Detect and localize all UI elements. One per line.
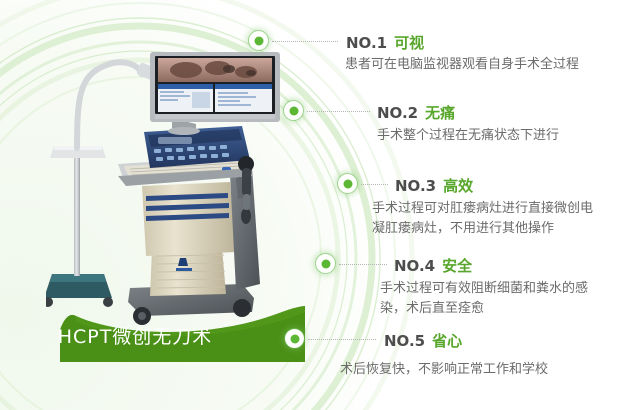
item-keyword-1: 可视 bbox=[394, 34, 424, 52]
item-keyword-3: 高效 bbox=[443, 177, 473, 195]
product-photo bbox=[46, 36, 284, 336]
bullet-dot-5[interactable] bbox=[285, 329, 304, 348]
leader-line-2 bbox=[307, 111, 370, 113]
banner-label: HCPT微创无刀术 bbox=[0, 322, 270, 349]
item-desc-3-line-1: 手术过程可对肛瘘病灶进行直接微创电 bbox=[372, 199, 593, 219]
item-no-3: NO.3 bbox=[395, 177, 436, 195]
item-desc-4-line-2: 染，术后直至痊愈 bbox=[380, 299, 588, 319]
item-keyword-4: 安全 bbox=[442, 257, 472, 275]
bullet-dot-1[interactable] bbox=[249, 31, 268, 50]
leader-line-1 bbox=[272, 41, 338, 43]
item-desc-1: 患者可在电脑监视器观看自身手术全过程 bbox=[345, 55, 579, 75]
item-desc-3-line-2: 凝肛瘘病灶，不用进行其他操作 bbox=[372, 219, 593, 239]
item-title-2: NO.2无痛 bbox=[377, 102, 455, 123]
leader-line-3 bbox=[361, 184, 388, 186]
item-desc-1-line-1: 患者可在电脑监视器观看自身手术全过程 bbox=[345, 55, 579, 75]
leader-line-5 bbox=[308, 339, 376, 341]
item-keyword-2: 无痛 bbox=[425, 104, 455, 122]
item-desc-3: 手术过程可对肛瘘病灶进行直接微创电 凝肛瘘病灶，不用进行其他操作 bbox=[372, 199, 593, 239]
item-no-4: NO.4 bbox=[394, 257, 435, 275]
item-no-1: NO.1 bbox=[346, 34, 387, 52]
infographic-root: HCPT微创无刀术 NO.1可视 患者可在电脑监视器观看自身手术全过程 NO.2… bbox=[0, 0, 617, 410]
item-no-2: NO.2 bbox=[377, 104, 418, 122]
leader-line-4 bbox=[339, 264, 387, 266]
item-title-3: NO.3高效 bbox=[395, 175, 473, 196]
bullet-dot-2[interactable] bbox=[284, 101, 303, 120]
bullet-dot-3[interactable] bbox=[338, 174, 357, 193]
item-desc-2: 手术整个过程在无痛状态下进行 bbox=[377, 126, 559, 146]
item-desc-4: 手术过程可有效阻断细菌和粪水的感 染，术后直至痊愈 bbox=[380, 279, 588, 319]
item-desc-5: 术后恢复快，不影响正常工作和学校 bbox=[340, 360, 548, 380]
treatment-cart bbox=[118, 52, 280, 325]
item-keyword-5: 省心 bbox=[432, 332, 462, 350]
item-title-5: NO.5省心 bbox=[384, 330, 462, 351]
item-desc-2-line-1: 手术整个过程在无痛状态下进行 bbox=[377, 126, 559, 146]
item-no-5: NO.5 bbox=[384, 332, 425, 350]
item-desc-5-line-1: 术后恢复快，不影响正常工作和学校 bbox=[340, 360, 548, 380]
item-title-1: NO.1可视 bbox=[346, 32, 424, 53]
item-desc-4-line-1: 手术过程可有效阻断细菌和粪水的感 bbox=[380, 279, 588, 299]
bullet-dot-4[interactable] bbox=[316, 254, 335, 273]
monitor bbox=[150, 52, 280, 135]
item-title-4: NO.4安全 bbox=[394, 255, 472, 276]
